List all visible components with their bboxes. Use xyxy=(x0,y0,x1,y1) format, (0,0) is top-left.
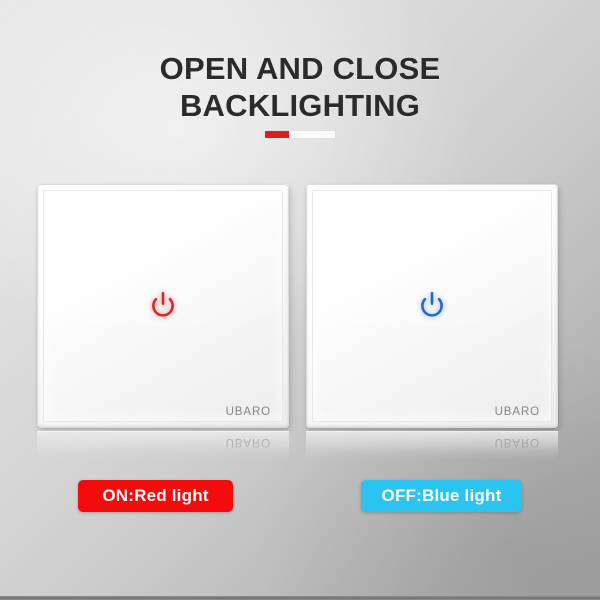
brand-logo-text: UBARO xyxy=(226,406,271,418)
product-panel-left: UBARO UBARO xyxy=(37,184,289,464)
title-divider xyxy=(265,131,335,138)
reflection-brand-text: UBARO xyxy=(495,436,540,448)
status-badge-on: ON:Red light xyxy=(78,480,233,512)
status-badge-off: OFF:Blue light xyxy=(361,480,522,512)
power-icon[interactable] xyxy=(419,290,445,320)
brand-logo-text: UBARO xyxy=(495,406,540,418)
panel-reflection-left: UBARO xyxy=(37,431,289,464)
product-promo-image: OPEN AND CLOSE BACKLIGHTING UBARO UBARO xyxy=(0,0,600,600)
power-icon[interactable] xyxy=(150,290,176,320)
touch-switch-panel-off[interactable]: UBARO xyxy=(306,184,558,428)
reflection-brand-text: UBARO xyxy=(226,436,271,448)
panel-reflection-right: UBARO xyxy=(306,431,558,464)
bottom-edge-strip xyxy=(0,596,600,600)
product-panel-right: UBARO UBARO xyxy=(306,184,558,464)
divider-accent-segment xyxy=(265,131,289,138)
title-line-1: OPEN AND CLOSE xyxy=(0,50,600,87)
touch-switch-panel-on[interactable]: UBARO xyxy=(37,184,289,428)
page-title: OPEN AND CLOSE BACKLIGHTING xyxy=(0,50,600,124)
title-line-2: BACKLIGHTING xyxy=(0,87,600,124)
divider-track-segment xyxy=(289,131,335,138)
